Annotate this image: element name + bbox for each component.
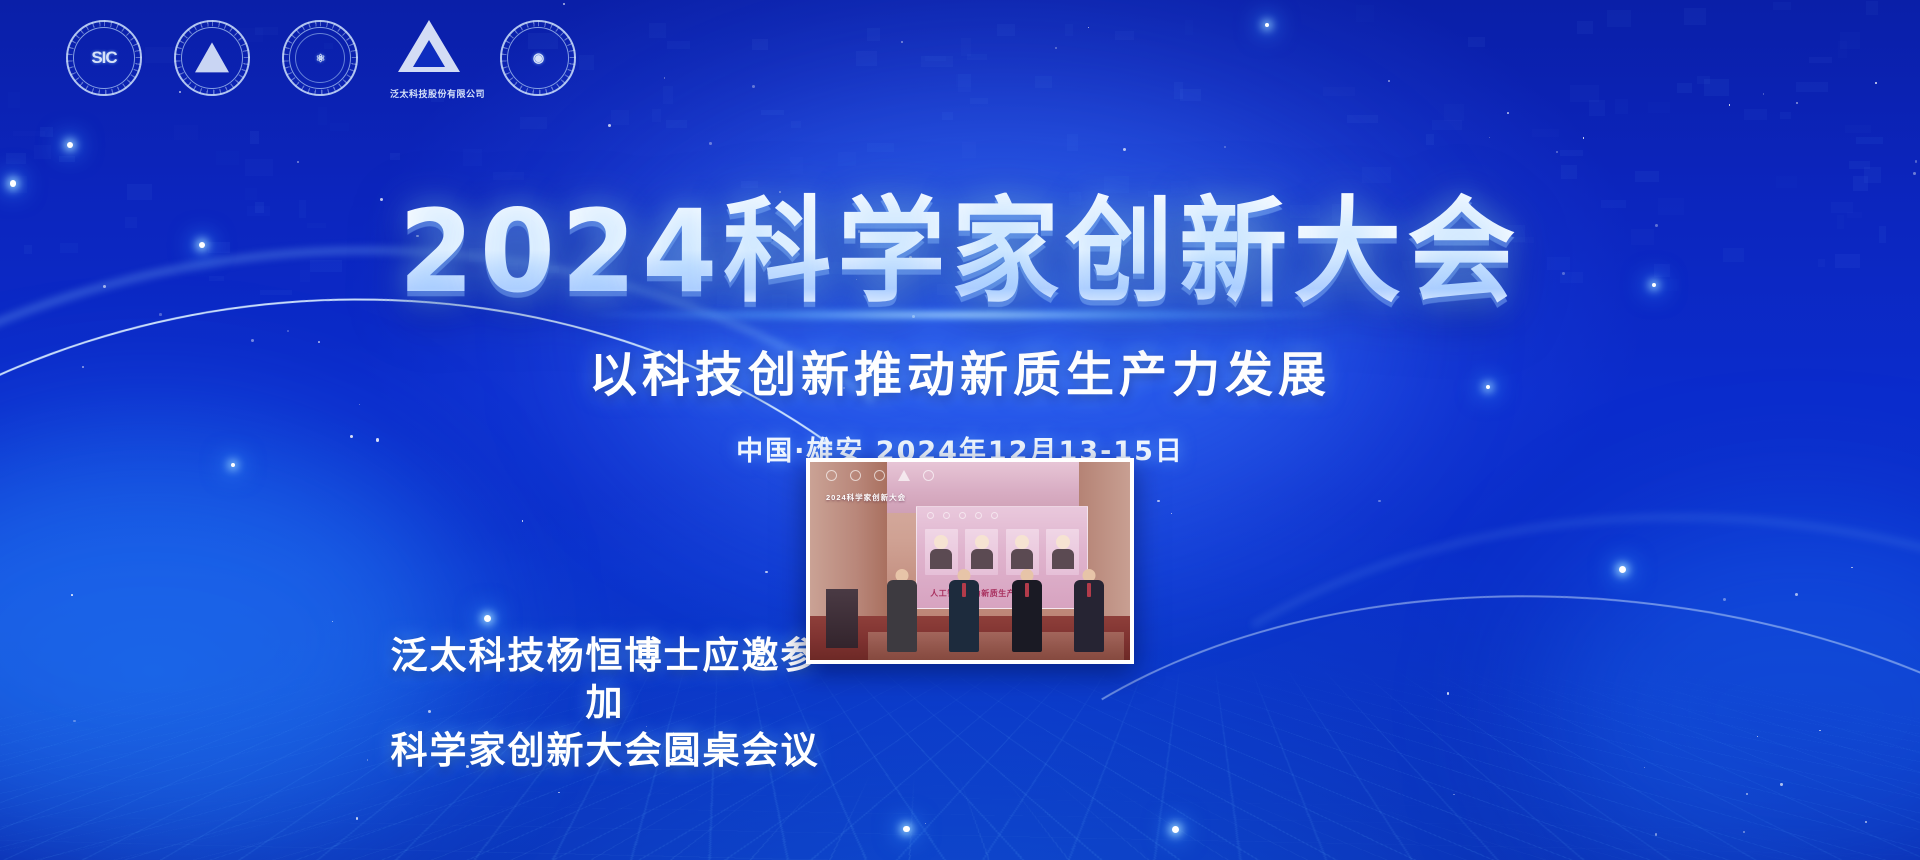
background-mesh-grid-secondary <box>0 763 1920 860</box>
home-icon <box>850 470 861 481</box>
screen-icon-5 <box>991 512 998 519</box>
poster-stage: SIC ⚛ 泛太科技股份有限公司 ◉ 2024科学家创新大会 以科技创新推动新质… <box>0 0 1920 860</box>
logo-sic-text: SIC <box>86 40 122 76</box>
screen-portrait <box>1006 529 1039 575</box>
logo-sic-emblem: SIC <box>66 20 142 96</box>
screen-icon-2 <box>943 512 950 519</box>
photo-panelists <box>874 569 1117 652</box>
panelist <box>1061 569 1117 652</box>
event-caption-line-2: 科学家创新大会圆桌会议 <box>390 727 820 774</box>
delta-icon <box>898 470 910 481</box>
title-underglow <box>590 308 1330 322</box>
event-caption-line-1: 泛太科技杨恒博士应邀参加 <box>390 632 820 727</box>
clock-icon <box>923 470 934 481</box>
page-title: 2024科学家创新大会 <box>0 193 1920 313</box>
poster-subtitle: 以科技创新推动新质生产力发展 <box>0 335 1920 405</box>
screen-portrait-grid <box>925 529 1079 575</box>
photo-content: 2024科学家创新大会 人工智能助力新质生产力 <box>810 462 1130 660</box>
badge-icon <box>826 470 837 481</box>
panelist <box>874 569 930 652</box>
screen-portrait <box>965 529 998 575</box>
logo-circular-badge: ◉ <box>500 20 576 96</box>
organizer-logos: SIC ⚛ 泛太科技股份有限公司 ◉ <box>66 18 576 98</box>
title-block: 2024科学家创新大会 以科技创新推动新质生产力发展 中国·雄安 2024年12… <box>0 196 1920 468</box>
event-caption: 泛太科技杨恒博士应邀参加 科学家创新大会圆桌会议 <box>390 632 820 774</box>
roundtable-panel-photo: 2024科学家创新大会 人工智能助力新质生产力 <box>806 458 1134 664</box>
screen-icon-4 <box>975 512 982 519</box>
photo-backdrop-icons <box>826 470 934 481</box>
logo-delta-mark: 泛太科技股份有限公司 <box>390 18 468 98</box>
photo-stage-banner: 2024科学家创新大会 <box>826 492 906 503</box>
screen-portrait <box>1046 529 1079 575</box>
panelist <box>936 569 992 652</box>
screen-icon-3 <box>959 512 966 519</box>
circle-icon <box>874 470 885 481</box>
screen-portrait <box>925 529 958 575</box>
background-mesh-grid <box>0 669 1920 860</box>
logo-triangle-seal <box>174 20 250 96</box>
panelist <box>999 569 1055 652</box>
logo-atom-seal: ⚛ <box>282 20 358 96</box>
photo-podium <box>826 589 858 648</box>
screen-icon-row <box>927 512 998 519</box>
logo-delta-caption: 泛太科技股份有限公司 <box>390 87 468 100</box>
glow-blob-right <box>1540 520 1920 860</box>
screen-icon-1 <box>927 512 934 519</box>
